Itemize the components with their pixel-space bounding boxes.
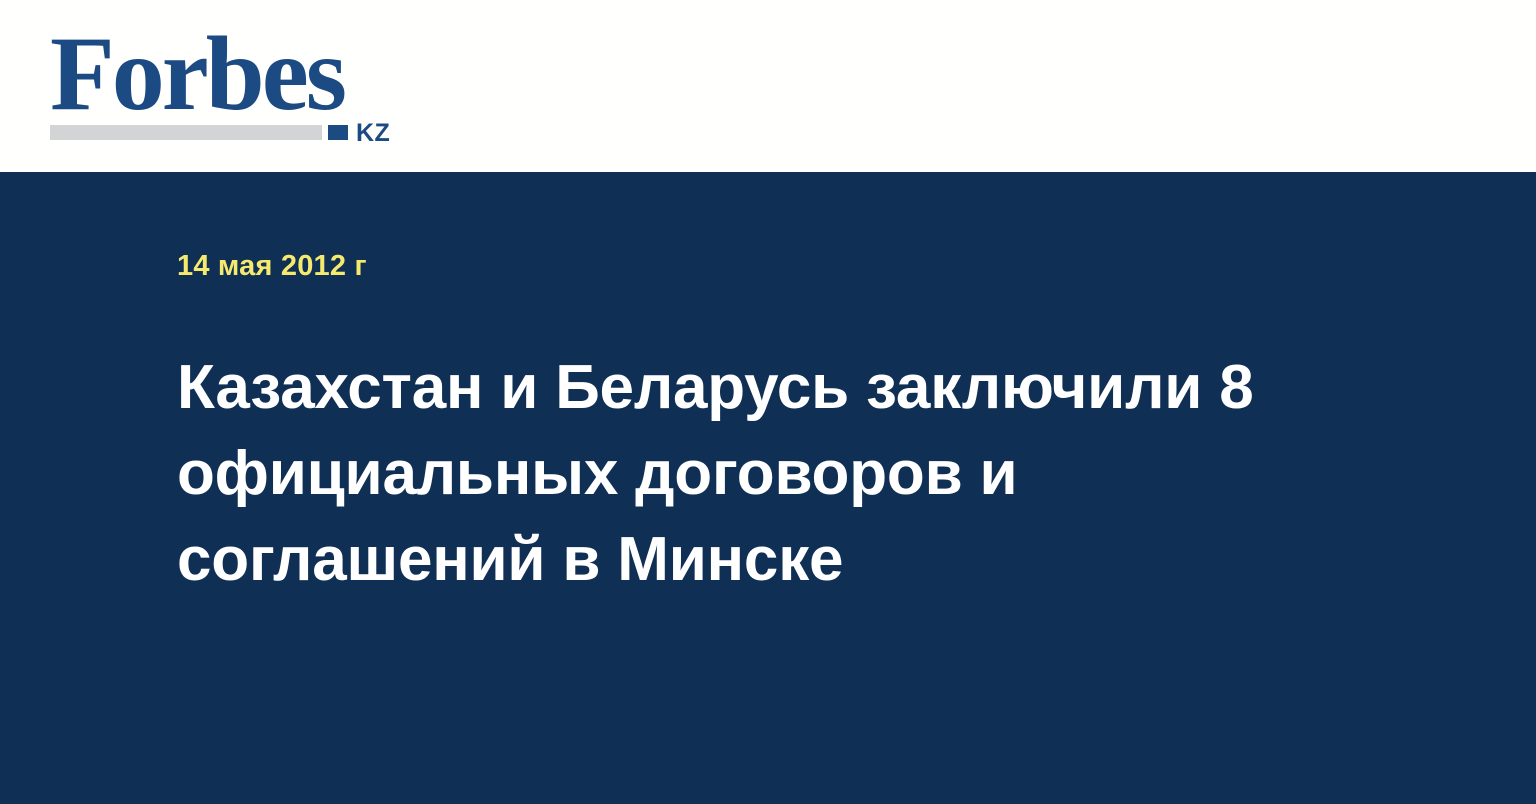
logo-edition-label: KZ — [356, 121, 390, 146]
article-hero-band: 14 мая 2012 г Казахстан и Беларусь заклю… — [0, 172, 1536, 804]
article-headline: Казахстан и Беларусь заключили 8 официал… — [177, 345, 1357, 603]
logo-square-icon — [328, 125, 348, 140]
forbes-kz-logo[interactable]: Forbes KZ — [50, 22, 410, 147]
logo-rule — [50, 125, 322, 140]
site-header: Forbes KZ — [0, 0, 1536, 172]
forbes-wordmark: Forbes — [50, 22, 344, 126]
article-date: 14 мая 2012 г — [177, 249, 367, 283]
article-page: Forbes KZ 14 мая 2012 г Казахстан и Бела… — [0, 0, 1536, 804]
